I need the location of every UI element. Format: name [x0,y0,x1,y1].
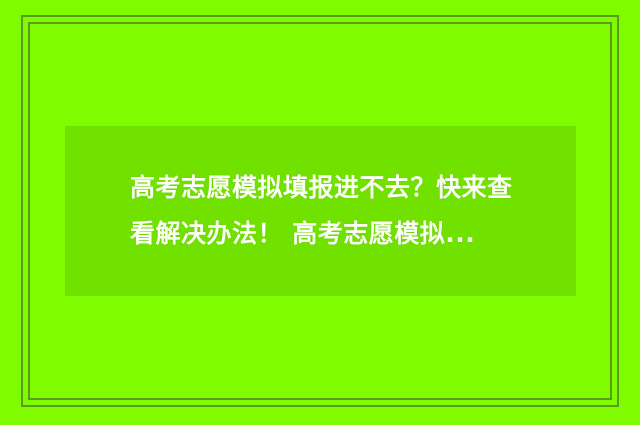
caption-panel: 高考志愿模拟填报进不去？快来查 看解决办法！ 高考志愿模拟... [65,126,576,296]
caption-headline: 高考志愿模拟填报进不去？快来查 看解决办法！ 高考志愿模拟... [130,165,556,257]
image-canvas: 高考志愿模拟填报进不去？快来查 看解决办法！ 高考志愿模拟... [0,0,640,425]
